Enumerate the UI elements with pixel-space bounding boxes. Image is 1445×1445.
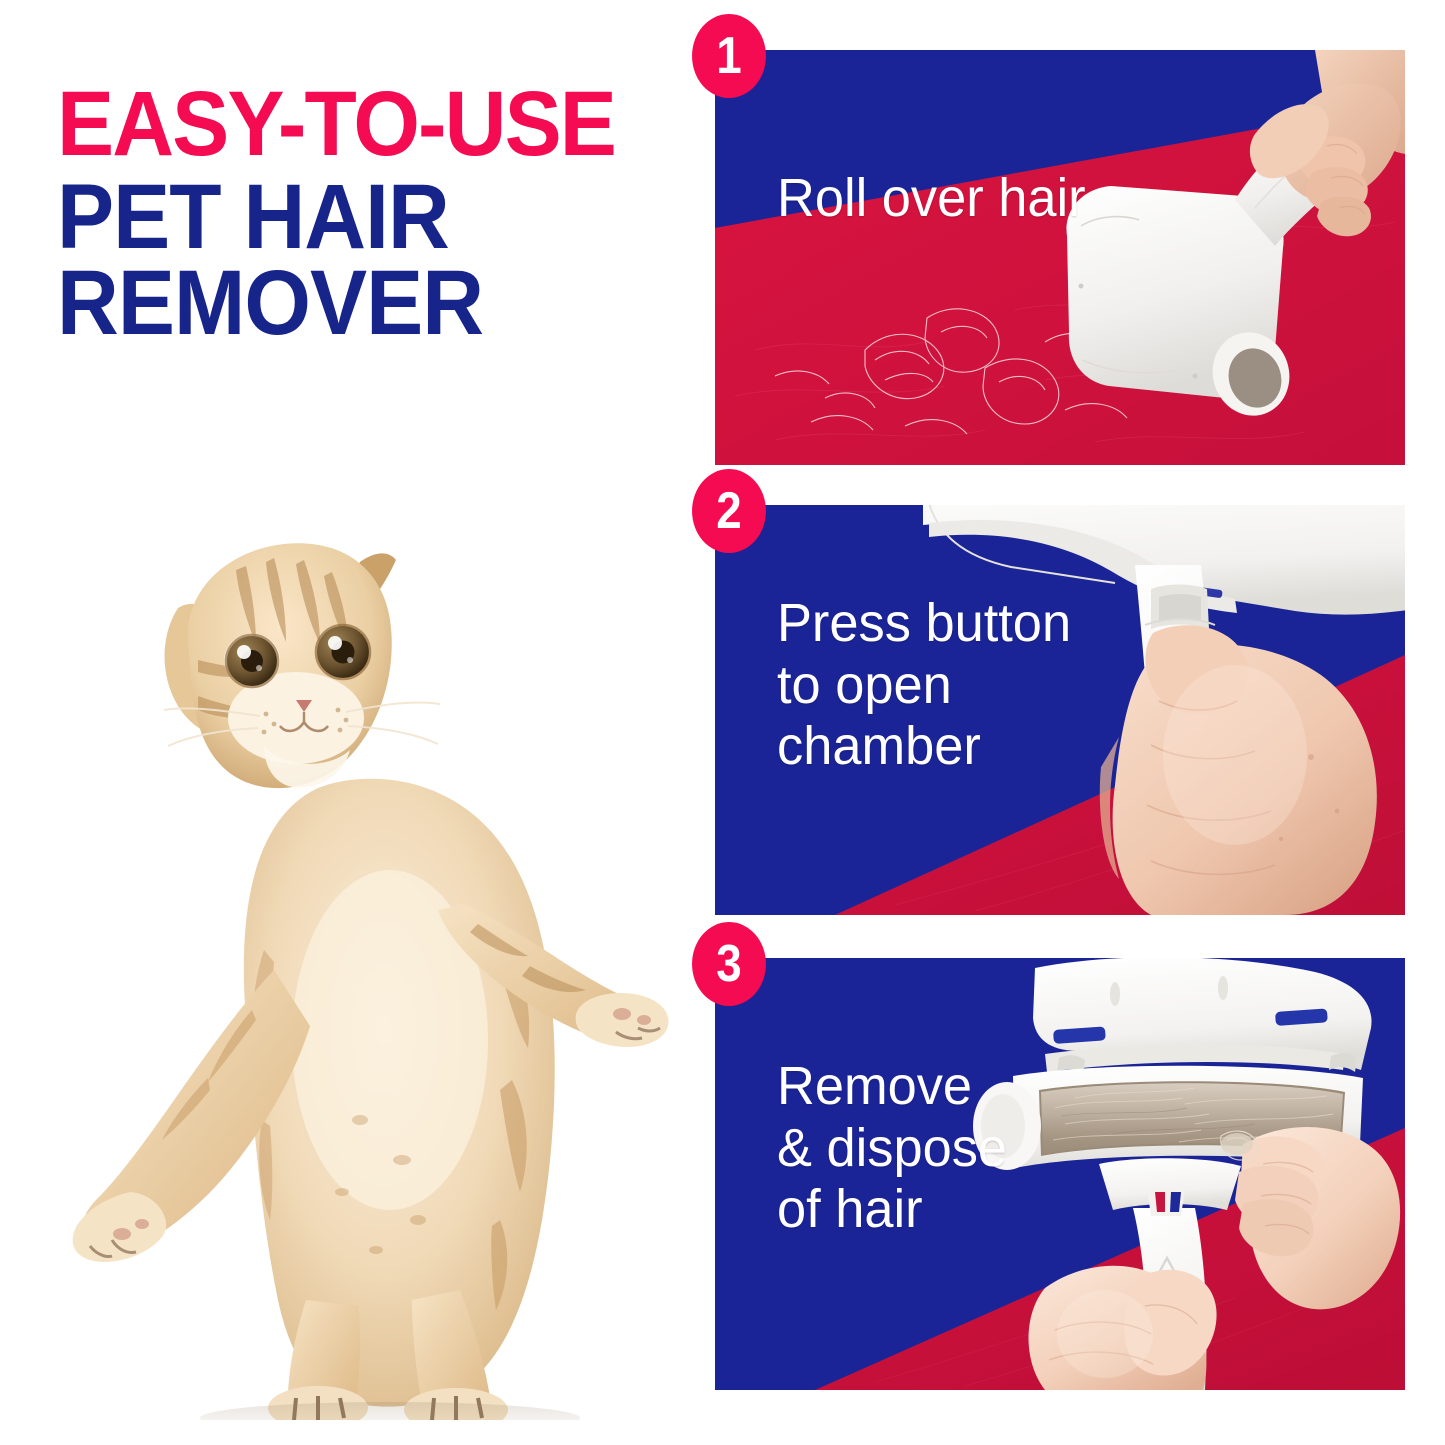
headline-line-3: REMOVER — [57, 261, 634, 346]
step-3-caption: Remove & dispose of hair — [777, 1056, 1007, 1241]
step-panel-2: 2 Press button to open chamber — [715, 505, 1405, 915]
step-1-scene — [715, 50, 1405, 465]
cat-photo — [60, 520, 680, 1420]
step-1-number-badge: 1 — [692, 14, 766, 98]
infographic-page: EASY-TO-USE PET HAIR REMOVER — [0, 0, 1445, 1445]
step-panel-3: 3 Remove & dispose of hair — [715, 958, 1405, 1390]
page-title: EASY-TO-USE PET HAIR REMOVER — [57, 82, 677, 346]
headline-line-1: EASY-TO-USE — [57, 82, 634, 167]
headline-line-2: PET HAIR — [57, 175, 634, 260]
step-2-caption: Press button to open chamber — [777, 593, 1071, 778]
step-1-caption: Roll over hair — [777, 168, 1086, 230]
step-panel-1: 1 Roll over hair — [715, 50, 1405, 465]
step-1-photo — [715, 50, 1405, 465]
cat-illustration — [60, 520, 680, 1420]
step-3-number-badge: 3 — [692, 922, 766, 1006]
step-2-number-badge: 2 — [692, 469, 766, 553]
